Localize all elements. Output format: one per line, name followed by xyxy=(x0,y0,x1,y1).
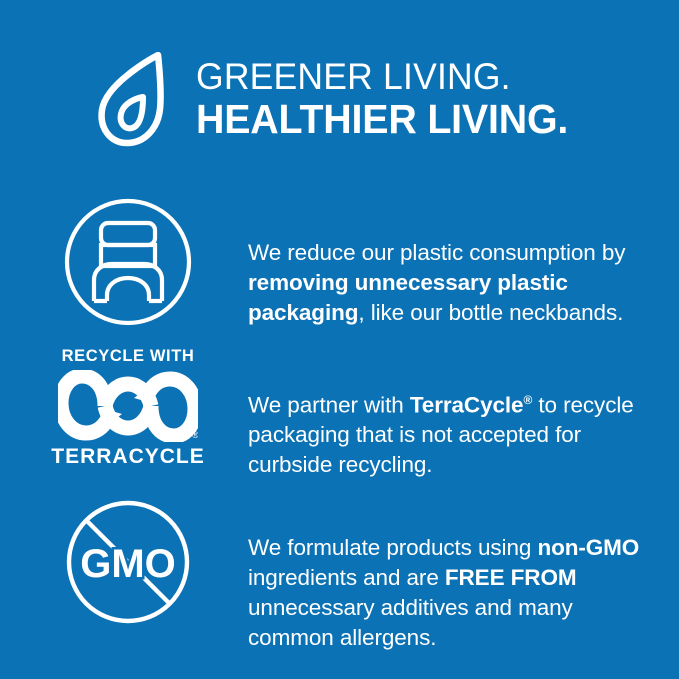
text-span: We partner with xyxy=(248,392,410,417)
icon-cell-gmo: GMO xyxy=(0,498,248,626)
terracycle-label-top: RECYCLE WITH xyxy=(62,348,195,365)
feature-row-non-gmo: GMO We formulate products using non-GMO … xyxy=(0,498,679,675)
text-span-bold: non-GMO xyxy=(537,535,639,560)
headline-line-1: GREENER LIVING. xyxy=(196,58,568,95)
greener-living-infographic: { "theme": { "background": "#0B72B5", "f… xyxy=(0,0,679,679)
icon-cell-terracycle: RECYCLE WITH ® TERRACYCLE xyxy=(0,348,248,467)
text-cell-plastic-reduction: We reduce our plastic consumption by rem… xyxy=(248,196,679,350)
registered-mark: ® xyxy=(192,430,198,440)
terracycle-logo-icon: RECYCLE WITH ® TERRACYCLE xyxy=(57,348,199,467)
registered-mark: ® xyxy=(523,393,532,407)
feature-text-plastic-reduction: We reduce our plastic consumption by rem… xyxy=(248,238,661,328)
infinity-recycle-loop-icon: ® xyxy=(58,370,198,442)
text-span: ingredients and are xyxy=(248,565,445,590)
text-span: We formulate products using xyxy=(248,535,537,560)
gmo-label: GMO xyxy=(80,542,176,586)
terracycle-label-bottom: TERRACYCLE xyxy=(51,446,205,467)
text-cell-terracycle: We partner with TerraCycle® to recycle p… xyxy=(248,348,679,503)
text-cell-non-gmo: We formulate products using non-GMO ingr… xyxy=(248,498,679,675)
text-span: We reduce our plastic consumption by xyxy=(248,240,625,265)
no-gmo-icon: GMO xyxy=(64,498,192,626)
icon-cell-bottle xyxy=(0,196,248,328)
leaf-icon xyxy=(96,52,178,148)
feature-row-plastic-reduction: We reduce our plastic consumption by rem… xyxy=(0,196,679,350)
header-banner: GREENER LIVING. HEALTHIER LIVING. xyxy=(0,44,679,154)
feature-text-non-gmo: We formulate products using non-GMO ingr… xyxy=(248,533,661,653)
bottle-neckband-icon xyxy=(62,196,194,328)
text-span: , like our bottle neckbands. xyxy=(358,300,623,325)
text-span: unnecessary additives and many common al… xyxy=(248,595,573,650)
feature-row-terracycle: RECYCLE WITH ® TERRACYCLE We partner wit… xyxy=(0,348,679,503)
feature-text-terracycle: We partner with TerraCycle® to recycle p… xyxy=(248,385,661,481)
text-span-bold: TerraCycle xyxy=(410,392,524,417)
text-span-bold: FREE FROM xyxy=(445,565,577,590)
headline-block: GREENER LIVING. HEALTHIER LIVING. xyxy=(196,58,584,140)
headline-line-2: HEALTHIER LIVING. xyxy=(196,99,568,140)
